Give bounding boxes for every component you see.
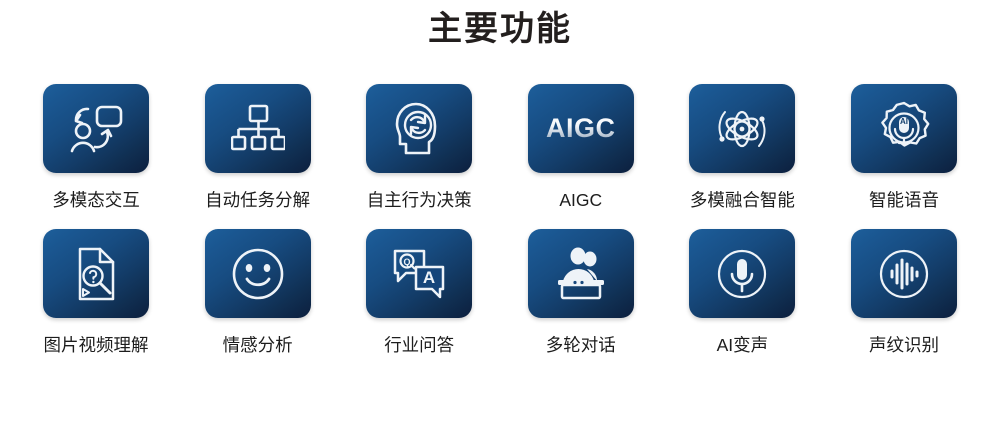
head-refresh-icon: [391, 100, 447, 158]
feature-label: AIGC: [559, 189, 602, 211]
feature-label: 智能语音: [869, 189, 939, 211]
feature-card-aigc[interactable]: AIGC AIGC: [507, 84, 655, 211]
feature-grid: 多模态交互 自动任务分解: [0, 52, 1000, 356]
feature-tile[interactable]: [689, 84, 795, 173]
feature-card-task-decomposition[interactable]: 自动任务分解: [184, 84, 332, 211]
feature-row-2: 图片视频理解 情感分析 Q A: [0, 229, 1000, 356]
circle-waveform-icon: [876, 246, 932, 302]
feature-label: 自主行为决策: [367, 189, 472, 211]
feature-card-multimodal-fusion[interactable]: 多模融合智能: [668, 84, 816, 211]
feature-card-multi-turn-dialogue[interactable]: 多轮对话: [507, 229, 655, 356]
feature-tile[interactable]: [43, 229, 149, 318]
feature-label: 多模融合智能: [690, 189, 795, 211]
feature-label: 多模态交互: [52, 189, 140, 211]
feature-card-image-video-understanding[interactable]: 图片视频理解: [22, 229, 170, 356]
feature-tile[interactable]: AIGC: [528, 84, 634, 173]
feature-label: AI变声: [717, 334, 769, 356]
feature-tile[interactable]: [205, 229, 311, 318]
a-badge-text: A: [423, 268, 435, 287]
feature-tile[interactable]: [689, 229, 795, 318]
q-badge-text: Q: [404, 257, 411, 267]
feature-tile[interactable]: [851, 229, 957, 318]
feature-label: 声纹识别: [869, 334, 939, 356]
hierarchy-tree-icon: [231, 103, 285, 155]
feature-label: 情感分析: [223, 334, 293, 356]
feature-tile[interactable]: [43, 84, 149, 173]
person-screen-exchange-icon: [66, 101, 126, 157]
feature-card-ai-voice-change[interactable]: AI变声: [668, 229, 816, 356]
feature-card-intelligent-voice[interactable]: AI 智能语音: [830, 84, 978, 211]
feature-card-multimodal-interaction[interactable]: 多模态交互: [22, 84, 170, 211]
feature-tile[interactable]: [205, 84, 311, 173]
feature-label: 行业问答: [384, 334, 454, 356]
feature-tile[interactable]: AI: [851, 84, 957, 173]
feature-tile[interactable]: [366, 84, 472, 173]
feature-tile[interactable]: Q A: [366, 229, 472, 318]
document-magnifier-question-icon: [70, 245, 122, 303]
qa-speech-bubbles-icon: Q A: [390, 246, 448, 302]
gear-microphone-ai-icon: AI: [875, 100, 933, 158]
feature-row-1: 多模态交互 自动任务分解: [0, 84, 1000, 211]
feature-card-voiceprint-recognition[interactable]: 声纹识别: [830, 229, 978, 356]
feature-card-autonomous-decision[interactable]: 自主行为决策: [345, 84, 493, 211]
feature-card-industry-qa[interactable]: Q A 行业问答: [345, 229, 493, 356]
page-title: 主要功能: [0, 0, 1000, 52]
atom-orbit-icon: [711, 100, 773, 158]
feature-label: 自动任务分解: [205, 189, 310, 211]
feature-label: 图片视频理解: [44, 334, 149, 356]
aigc-text-icon: AIGC: [546, 115, 616, 142]
ai-badge-text: AI: [900, 117, 908, 126]
feature-tile[interactable]: [528, 229, 634, 318]
people-podium-icon: [551, 247, 611, 301]
circle-microphone-icon: [714, 246, 770, 302]
feature-label: 多轮对话: [546, 334, 616, 356]
feature-card-sentiment-analysis[interactable]: 情感分析: [184, 229, 332, 356]
smiley-face-icon: [230, 246, 286, 302]
